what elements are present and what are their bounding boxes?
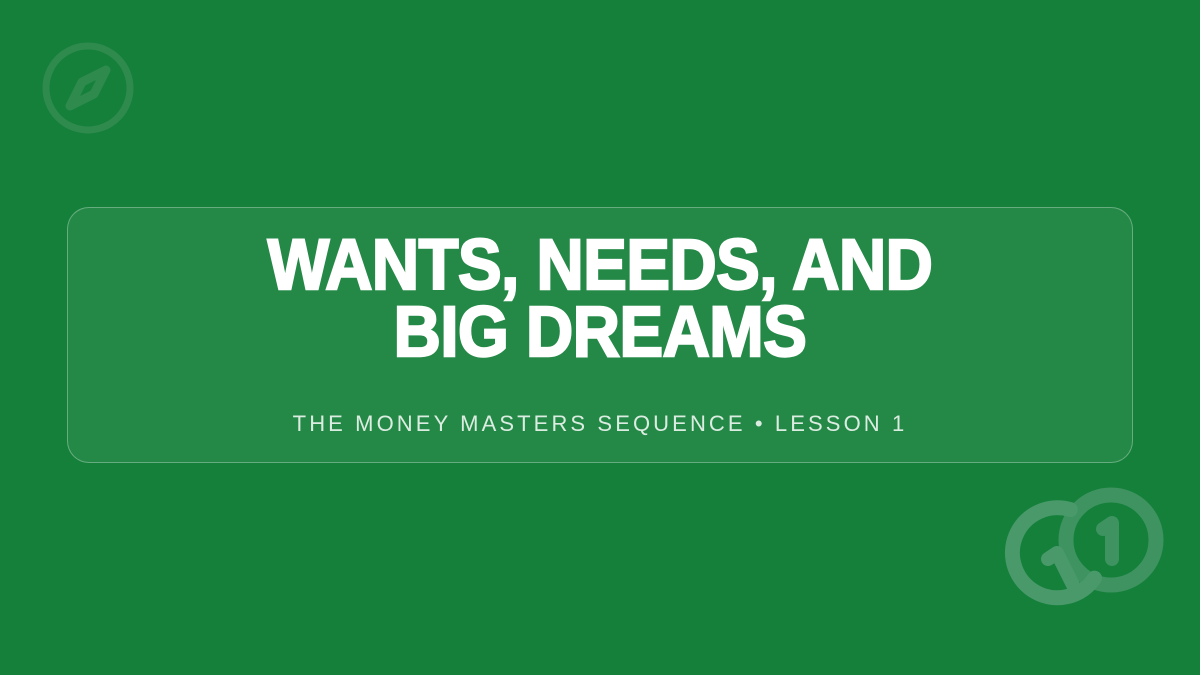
title-card: Wants, Needs, and Big Dreams THE MONEY M…: [67, 207, 1133, 463]
coin-back-icon: [1066, 495, 1156, 585]
coins-icon: [1003, 485, 1168, 645]
title-slide: Wants, Needs, and Big Dreams THE MONEY M…: [0, 0, 1200, 675]
coin-front-icon: [1004, 499, 1107, 605]
page-title: Wants, Needs, and Big Dreams: [204, 233, 995, 366]
slide-subtitle: THE MONEY MASTERS SEQUENCE • LESSON 1: [293, 367, 908, 437]
compass-icon: [40, 40, 136, 136]
